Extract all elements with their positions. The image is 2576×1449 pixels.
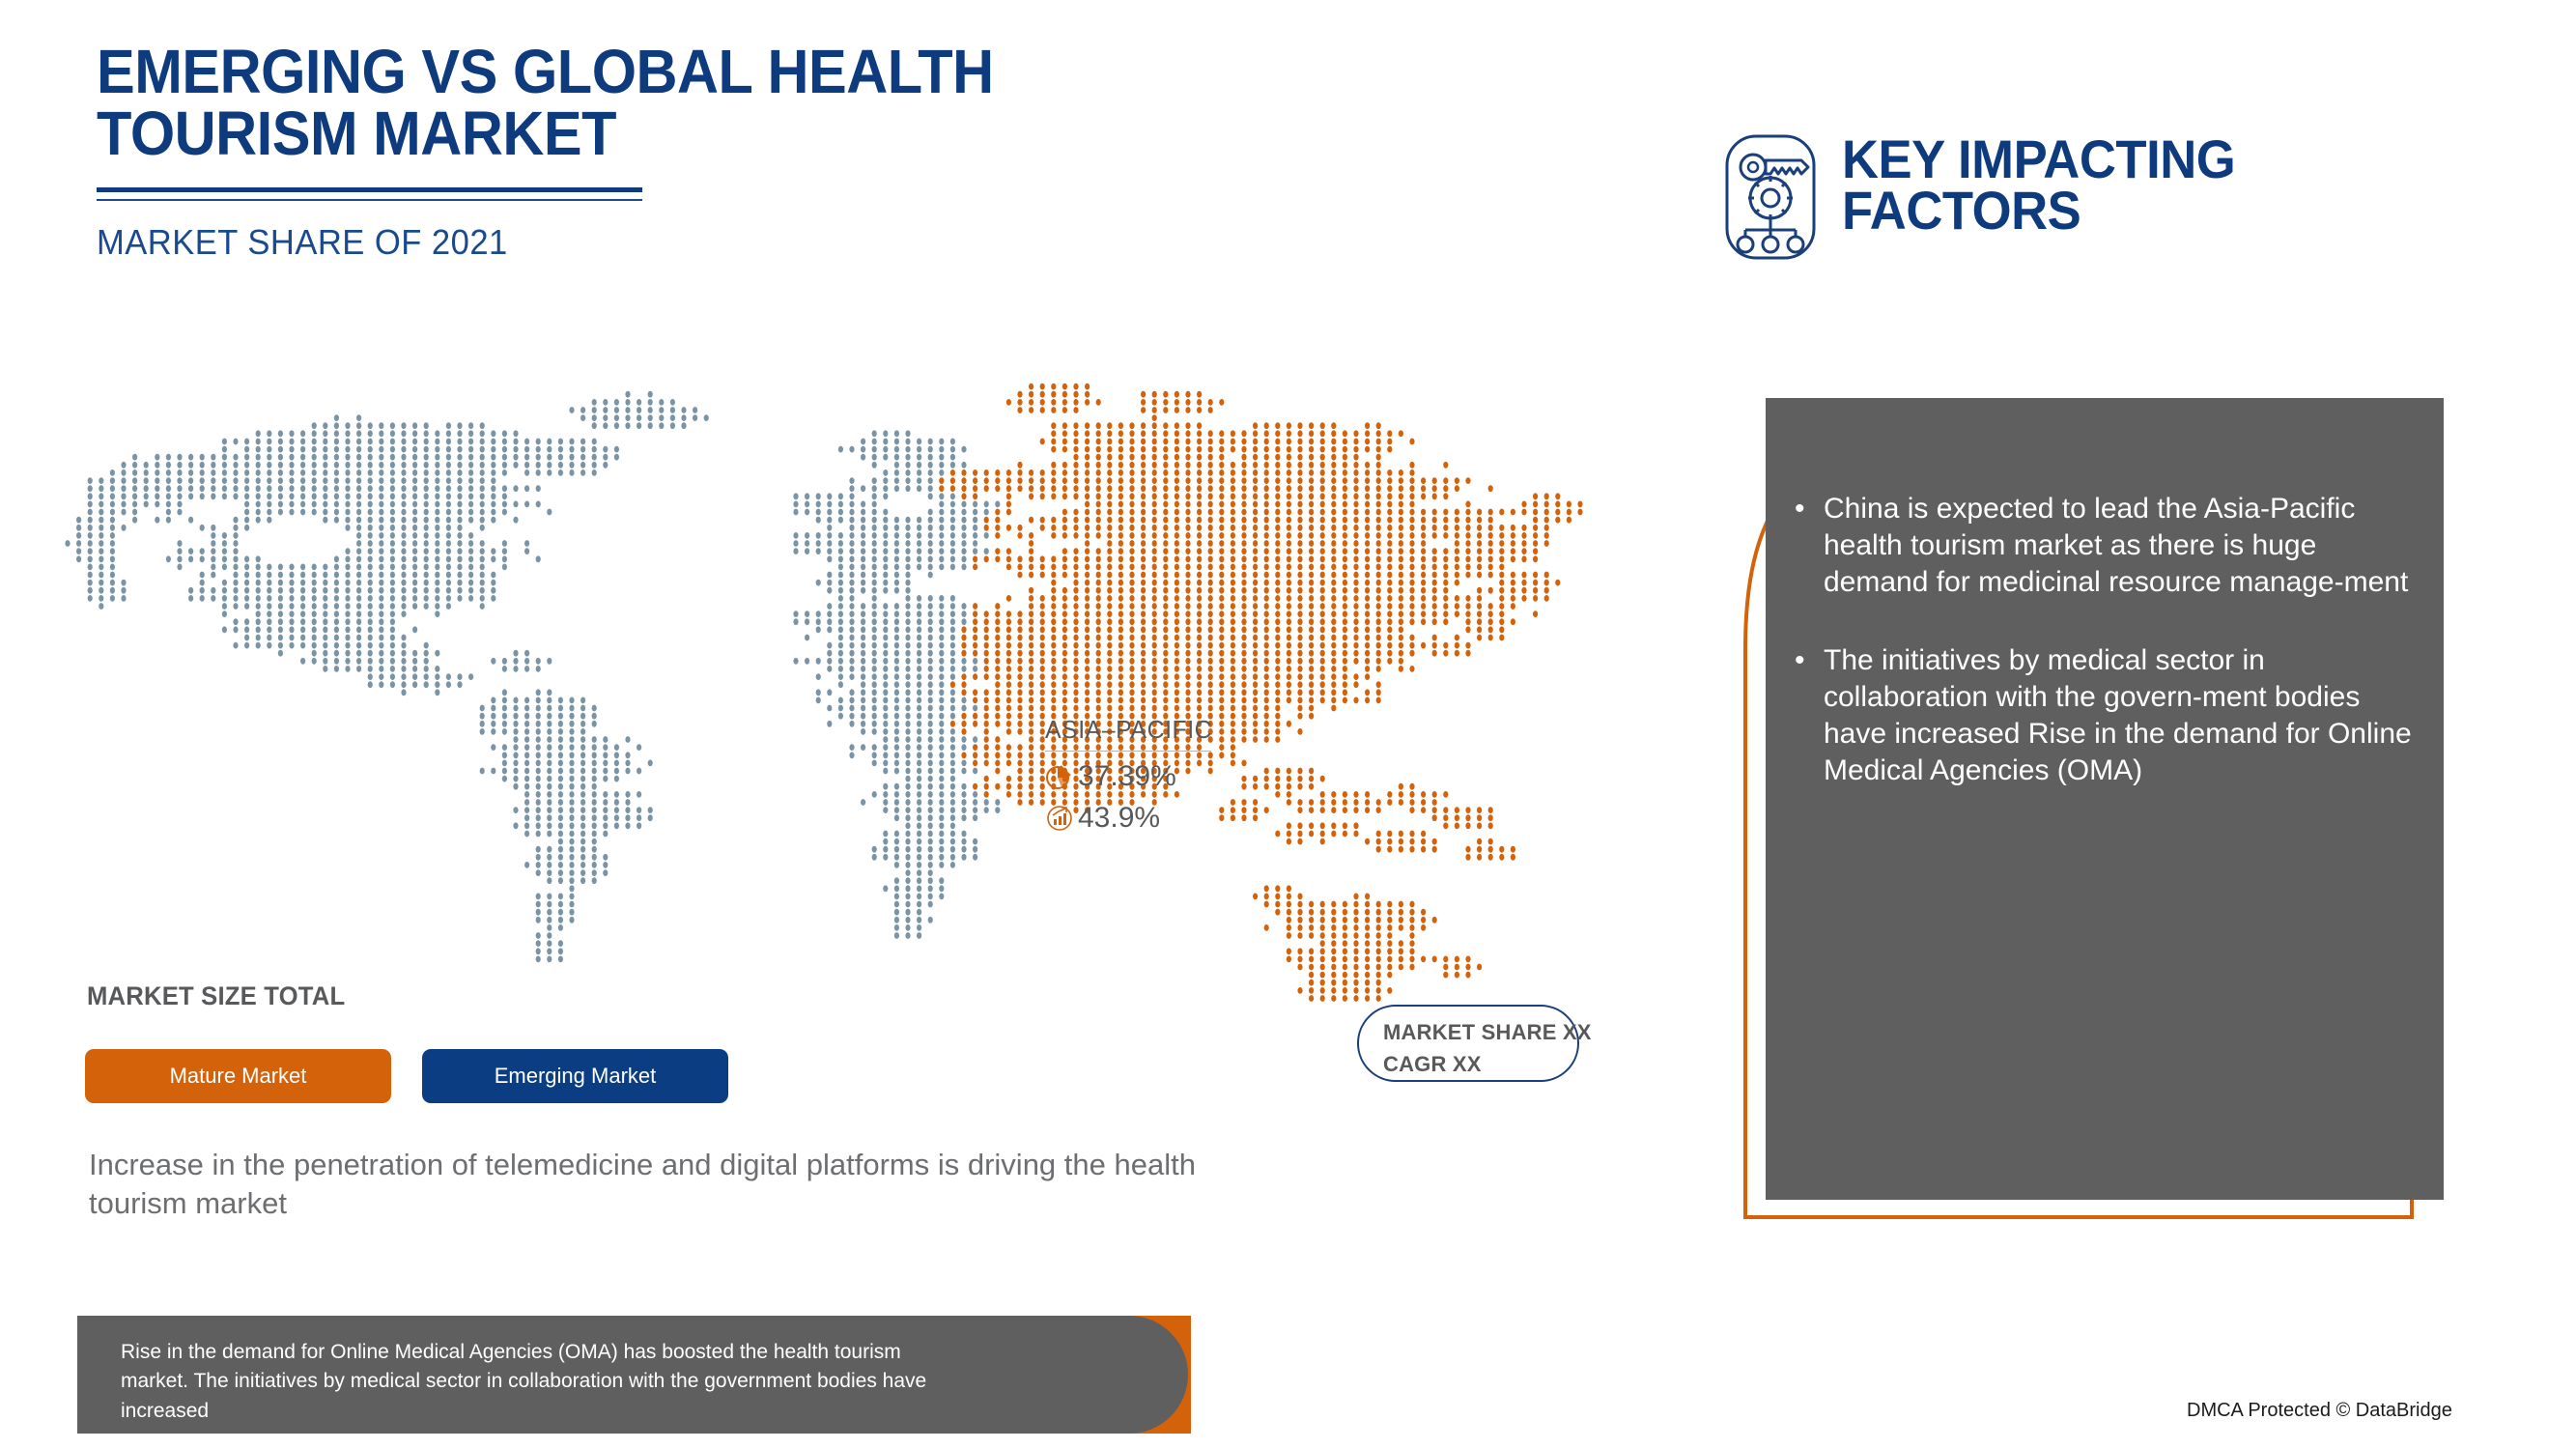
title-rule-thin xyxy=(97,199,642,201)
market-size-total-label: MARKET SIZE TOTAL xyxy=(87,981,345,1011)
callout-market-share-row: 37.39% xyxy=(1045,760,1219,793)
market-share-text: MARKET SHARE XX xyxy=(1383,1016,1577,1048)
list-item: • China is expected to lead the Asia-Pac… xyxy=(1795,491,2422,600)
title-line-1: EMERGING VS GLOBAL HEALTH xyxy=(97,41,1175,102)
pie-chart-icon xyxy=(1045,762,1074,791)
cagr-text: CAGR XX xyxy=(1383,1048,1577,1080)
key-gear-network-icon xyxy=(1724,133,1817,261)
market-share-value: 37.39% xyxy=(1078,760,1176,793)
callout-divider xyxy=(1045,751,1211,752)
list-item-text: China is expected to lead the Asia-Pacif… xyxy=(1824,491,2422,600)
kif-title-line-2: FACTORS xyxy=(1842,185,2235,236)
page-subtitle: MARKET SHARE OF 2021 xyxy=(97,222,1209,263)
kif-title-line-1: KEY IMPACTING xyxy=(1842,133,2235,185)
key-impacting-factors-title: KEY IMPACTING FACTORS xyxy=(1842,133,2235,236)
list-item: • The initiatives by medical sector in c… xyxy=(1795,642,2422,788)
title-line-2: TOURISM MARKET xyxy=(97,102,1175,164)
bullet-marker: • xyxy=(1795,491,1824,600)
legend-label: Emerging Market xyxy=(495,1064,657,1089)
footer-banner-text: Rise in the demand for Online Medical Ag… xyxy=(121,1338,971,1426)
key-impacting-factors-header: KEY IMPACTING FACTORS xyxy=(1724,133,2260,261)
asia-pacific-callout: ASIA–PACIFIC 37.39% 43.9% xyxy=(1045,715,1219,835)
map-legend: Mature Market Emerging Market xyxy=(85,1049,728,1103)
growth-bar-chart-icon xyxy=(1045,804,1074,833)
page-title: EMERGING VS GLOBAL HEALTH TOURISM MARKET… xyxy=(97,41,1256,263)
callout-cagr-row: 43.9% xyxy=(1045,802,1219,835)
key-factors-list: • China is expected to lead the Asia-Pac… xyxy=(1795,491,2422,832)
world-dot-map xyxy=(58,338,1700,1014)
legend-item-mature-market[interactable]: Mature Market xyxy=(85,1049,391,1103)
title-rule-thick xyxy=(97,187,642,192)
legend-label: Mature Market xyxy=(170,1064,307,1089)
market-share-badge: MARKET SHARE XX CAGR XX xyxy=(1357,1005,1579,1082)
title-divider xyxy=(97,187,642,201)
list-item-text: The initiatives by medical sector in col… xyxy=(1824,642,2422,788)
bullet-marker: • xyxy=(1795,642,1824,788)
map-caption: Increase in the penetration of telemedic… xyxy=(89,1146,1229,1222)
callout-region-label: ASIA–PACIFIC xyxy=(1045,715,1212,745)
cagr-value: 43.9% xyxy=(1078,802,1160,835)
dmca-notice: DMCA Protected © DataBridge xyxy=(2187,1400,2452,1422)
legend-item-emerging-market[interactable]: Emerging Market xyxy=(422,1049,728,1103)
